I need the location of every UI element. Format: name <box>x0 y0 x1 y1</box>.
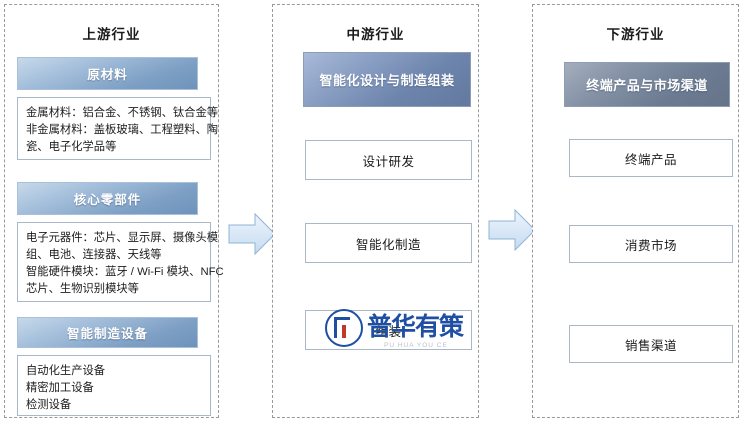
upstream-section-body-smart-manufacturing-equipment: 自动化生产设备 精密加工设备 检测设备 <box>17 355 211 416</box>
downstream-item-sales-channels-label: 销售渠道 <box>625 335 677 354</box>
downstream-item-sales-channels: 销售渠道 <box>569 325 733 363</box>
text-line: 检测设备 <box>26 397 202 414</box>
upstream-section-header-core-components: 核心零部件 <box>17 182 198 215</box>
text-line: 自动化生产设备 <box>26 363 202 380</box>
midstream-item-rnd-label: 设计研发 <box>362 151 414 170</box>
downstream-header-label: 终端产品与市场渠道 <box>586 75 708 94</box>
column-upstream: 上游行业 原材料 金属材料：铝合金、不锈钢、钛合金等 非金属材料：盖板玻璃、工程… <box>4 4 219 418</box>
downstream-item-end-products: 终端产品 <box>569 139 733 177</box>
text-line: 组、电池、连接器、天线等 <box>26 247 202 264</box>
upstream-section-header-smart-manufacturing-equipment: 智能制造设备 <box>17 317 198 348</box>
text-line: 智能硬件模块：蓝牙 / Wi-Fi 模块、NFC <box>26 264 202 281</box>
upstream-section-header-raw-materials: 原材料 <box>17 57 198 90</box>
midstream-header-label: 智能化设计与制造组装 <box>319 70 454 89</box>
column-midstream: 中游行业 智能化设计与制造组装 设计研发 智能化制造 组装 <box>272 4 479 418</box>
column-downstream: 下游行业 终端产品与市场渠道 终端产品 消费市场 销售渠道 <box>532 4 739 418</box>
upstream-section-header-raw-materials-label: 原材料 <box>87 64 128 83</box>
industry-chain-diagram: 上游行业 原材料 金属材料：铝合金、不锈钢、钛合金等 非金属材料：盖板玻璃、工程… <box>0 0 747 428</box>
midstream-item-rnd: 设计研发 <box>305 140 472 180</box>
column-upstream-title: 上游行业 <box>5 23 218 43</box>
upstream-section-body-raw-materials: 金属材料：铝合金、不锈钢、钛合金等 非金属材料：盖板玻璃、工程塑料、陶 瓷、电子… <box>17 97 211 160</box>
text-line: 金属材料：铝合金、不锈钢、钛合金等 <box>26 105 202 122</box>
downstream-item-consumer-market: 消费市场 <box>569 225 733 263</box>
text-line: 精密加工设备 <box>26 380 202 397</box>
column-midstream-title: 中游行业 <box>273 23 478 43</box>
downstream-header-end-products-channels: 终端产品与市场渠道 <box>564 62 730 107</box>
text-line: 电子元器件：芯片、显示屏、摄像头模 <box>26 230 202 247</box>
midstream-item-assembly: 组装 <box>305 310 472 350</box>
arrow-upstream-to-midstream <box>228 210 276 258</box>
arrow-midstream-to-downstream <box>488 206 536 254</box>
midstream-header-design-manufacturing-assembly: 智能化设计与制造组装 <box>303 52 471 107</box>
midstream-item-smart-manufacturing: 智能化制造 <box>305 223 472 263</box>
text-line: 非金属材料：盖板玻璃、工程塑料、陶 <box>26 122 202 139</box>
downstream-item-consumer-market-label: 消费市场 <box>625 235 677 254</box>
upstream-section-header-smart-manufacturing-equipment-label: 智能制造设备 <box>67 323 148 342</box>
column-downstream-title: 下游行业 <box>533 23 738 43</box>
upstream-section-header-core-components-label: 核心零部件 <box>74 189 142 208</box>
downstream-item-end-products-label: 终端产品 <box>625 149 677 168</box>
text-line: 瓷、电子化学品等 <box>26 139 202 156</box>
upstream-section-body-core-components: 电子元器件：芯片、显示屏、摄像头模 组、电池、连接器、天线等 智能硬件模块：蓝牙… <box>17 222 211 302</box>
text-line: 芯片、生物识别模块等 <box>26 281 202 298</box>
midstream-item-smart-manufacturing-label: 智能化制造 <box>356 234 421 253</box>
midstream-item-assembly-label: 组装 <box>375 321 401 340</box>
